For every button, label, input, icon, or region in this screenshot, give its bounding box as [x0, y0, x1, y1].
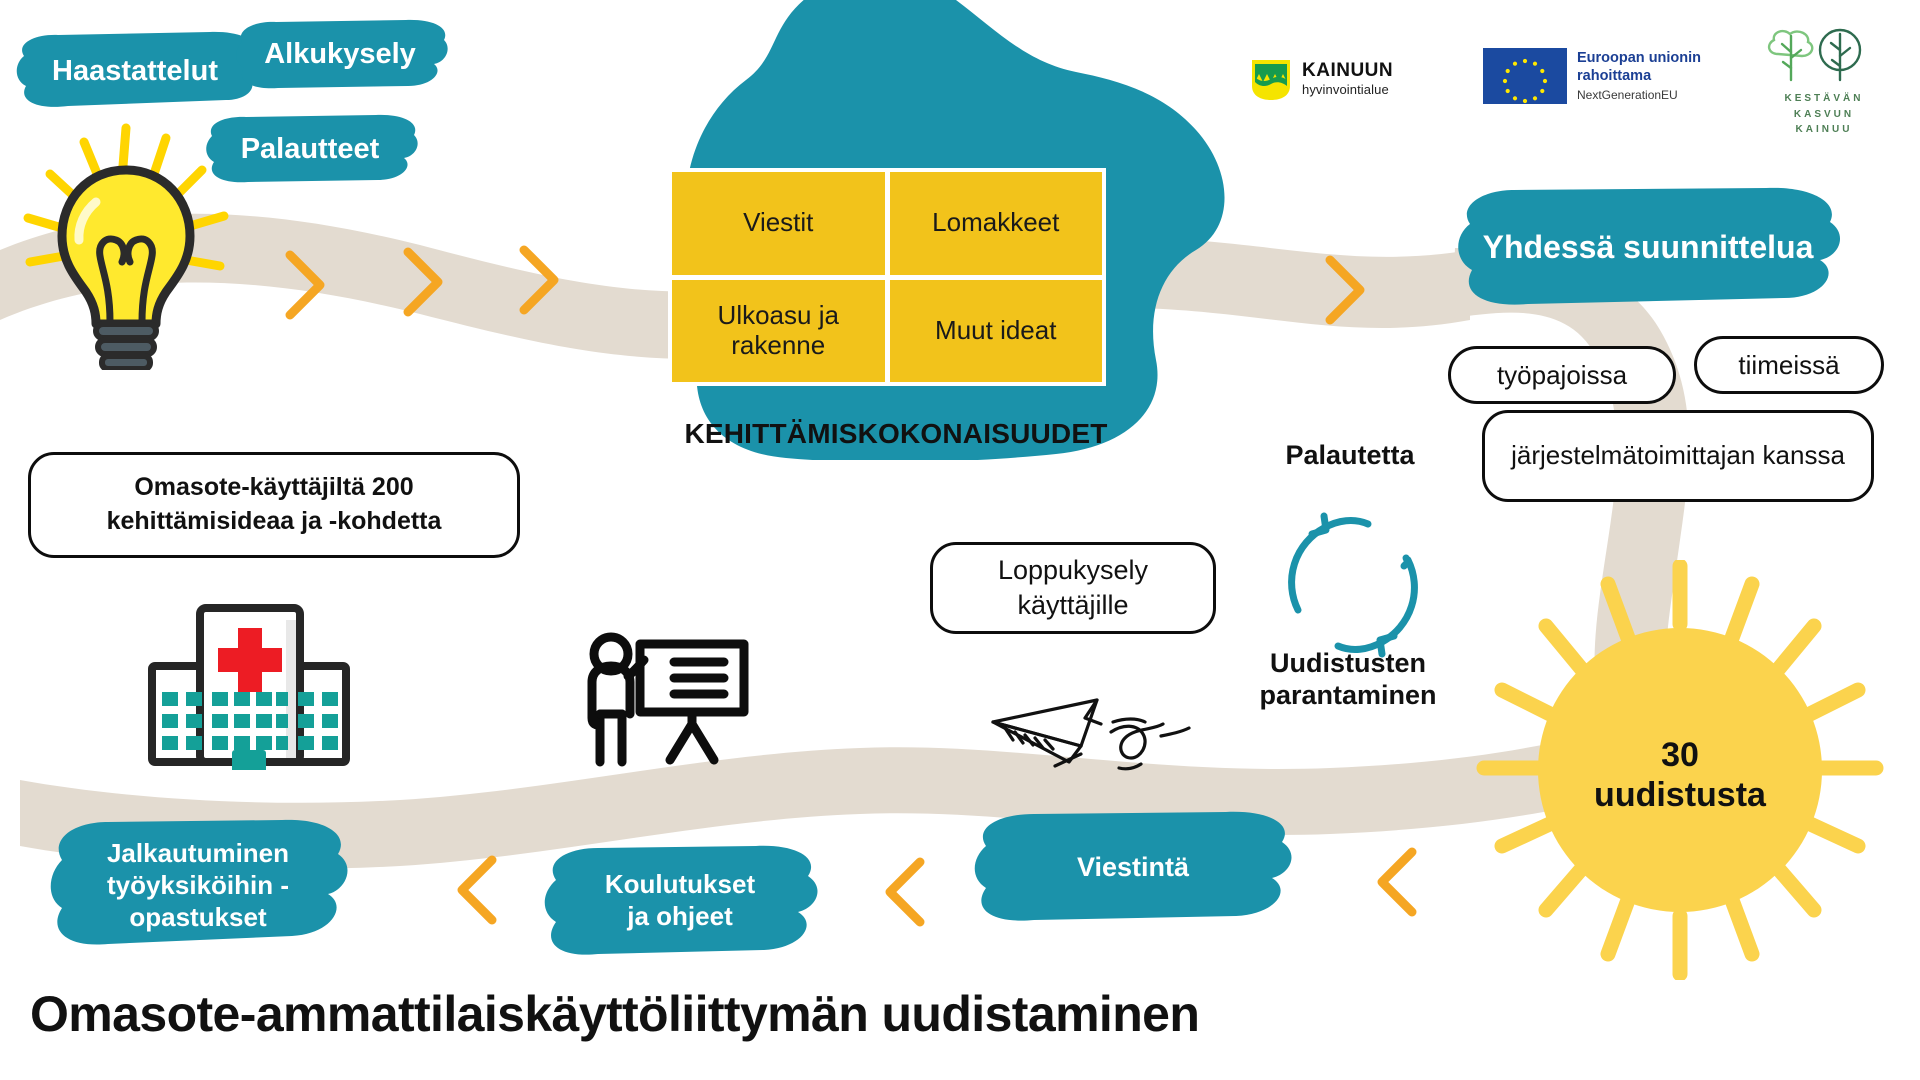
feedback-bottom-label: Uudistusten parantaminen [1218, 648, 1478, 712]
result-unit: uudistusta [1594, 776, 1766, 814]
result-number: 30 [1661, 736, 1699, 774]
hospital-icon [144, 600, 354, 770]
rollout-step-label: Koulutukset ja ohjeet [595, 869, 765, 932]
planning-tag-jarjestelmatoimittaja[interactable]: järjestelmätoimittajan kanssa [1482, 410, 1874, 502]
planning-tag-label: järjestelmätoimittajan kanssa [1511, 439, 1845, 473]
matrix-cell[interactable]: Muut ideat [890, 280, 1103, 383]
rollout-step-koulutukset[interactable]: Koulutukset ja ohjeet [540, 840, 820, 962]
eu-logo-sub: NextGenerationEU [1577, 88, 1701, 102]
logo-eu: Euroopan unionin rahoittama NextGenerati… [1483, 48, 1701, 104]
idea-count-box: Omasote-käyttäjiltä 200 kehittämisideaa … [28, 452, 520, 558]
planning-tag-tiimeissa[interactable]: tiimeissä [1694, 336, 1884, 394]
final-survey-text: Loppukysely käyttäjille [998, 553, 1148, 623]
rollout-step-jalkautuminen[interactable]: Jalkautuminen työyksiköihin - opastukset [46, 812, 350, 960]
kainuu-crest-icon [1248, 56, 1294, 102]
eu-logo-line2: rahoittama [1577, 68, 1701, 86]
input-bubble-label: Alkukysely [254, 37, 426, 72]
feedback-top-label: Palautetta [1230, 440, 1470, 472]
matrix-cell[interactable]: Ulkoasu ja rakenne [672, 280, 885, 383]
rollout-step-label: Jalkautuminen työyksiköihin - opastukset [97, 838, 299, 933]
input-bubble-label: Haastattelut [42, 54, 228, 89]
page-title: Omasote-ammattilaiskäyttöliittymän uudis… [30, 985, 1199, 1043]
logo-kainuu: KAINUUN hyvinvointialue [1248, 56, 1393, 102]
final-survey-box: Loppukysely käyttäjille [930, 542, 1216, 634]
eu-logo-line1: Euroopan unionin [1577, 50, 1701, 68]
kainuu-logo-sub: hyvinvointialue [1302, 82, 1393, 98]
planning-tag-tyopajoissa[interactable]: työpajoissa [1448, 346, 1676, 404]
kainuu-logo-name: KAINUUN [1302, 61, 1393, 80]
infographic-canvas: Haastattelut Alkukysely Palautteet [0, 0, 1920, 1080]
paper-plane-icon [985, 688, 1205, 778]
development-matrix: Viestit Lomakkeet Ulkoasu ja rakenne Muu… [668, 168, 1106, 386]
eu-flag-icon [1483, 48, 1567, 104]
development-title: KEHITTÄMISKOKONAISUUDET [556, 418, 1236, 450]
presenter-whiteboard-icon [578, 628, 758, 776]
input-bubble-label: Palautteet [231, 132, 390, 167]
rollout-step-viestinta[interactable]: Viestintä [968, 808, 1298, 926]
rollout-step-label: Viestintä [1067, 851, 1199, 884]
logo-kestava-kasvu: KESTÄVÄN KASVUN KAINUU [1758, 24, 1890, 138]
result-count: 30 uudistusta [1540, 735, 1820, 815]
planning-heading-blob[interactable]: Yhdessä suunnittelua [1448, 178, 1848, 318]
matrix-cell[interactable]: Lomakkeet [890, 172, 1103, 275]
input-bubble-palautteet[interactable]: Palautteet [200, 112, 420, 188]
two-trees-icon [1758, 24, 1890, 86]
matrix-cell[interactable]: Viestit [672, 172, 885, 275]
planning-tag-label: tiimeissä [1738, 350, 1839, 381]
idea-count-text: Omasote-käyttäjiltä 200 kehittämisideaa … [107, 471, 442, 539]
input-bubble-alkukysely[interactable]: Alkukysely [230, 16, 450, 94]
planning-tag-label: työpajoissa [1497, 360, 1627, 391]
input-bubble-haastattelut[interactable]: Haastattelut [10, 26, 260, 118]
kestava-logo-text: KESTÄVÄN KASVUN KAINUU [1758, 91, 1890, 138]
planning-heading-label: Yhdessä suunnittelua [1473, 228, 1824, 267]
